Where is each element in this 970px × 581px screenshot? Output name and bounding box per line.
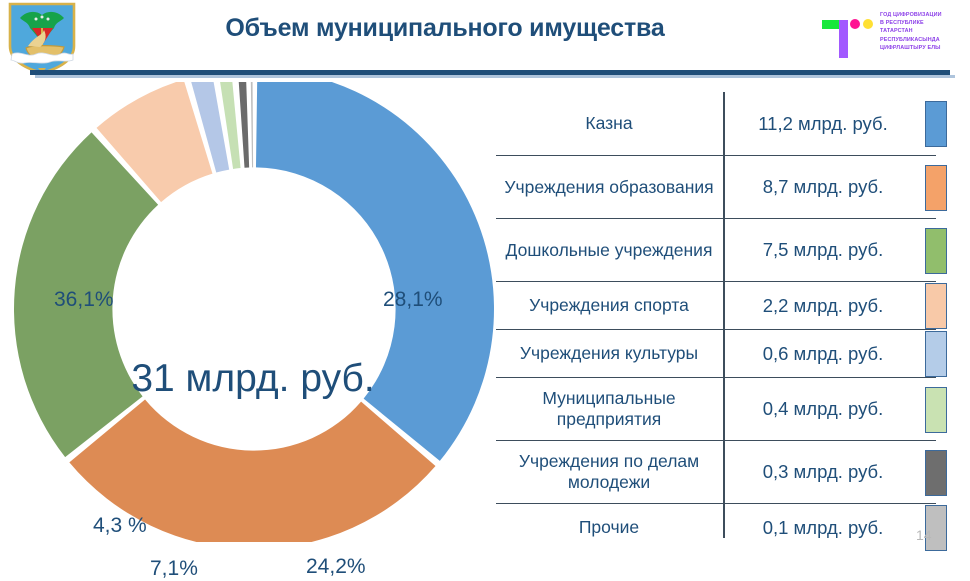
donut-pct-label-3: 7,1%: [150, 557, 198, 581]
logo-text: ГОД ЦИФРОВИЗАЦИИ В РЕСПУБЛИКЕ ТАТАРСТАН …: [880, 11, 970, 52]
legend-item-name: Муниципальные предприятия: [496, 378, 722, 440]
legend-color-swatch: [925, 101, 947, 147]
table-row[interactable]: Учреждения спорта2,2 млрд. руб.: [496, 281, 936, 329]
legend-item-name: Прочие: [496, 504, 722, 551]
logo-text-line-2: В РЕСПУБЛИКЕ: [880, 19, 970, 27]
legend-color-swatch: [925, 165, 947, 211]
page-title: Объем муниципального имущества: [175, 14, 715, 43]
legend-item-name: Дошкольные учреждения: [496, 219, 722, 281]
legend-item-value: 0,1 млрд. руб.: [725, 504, 921, 551]
legend-color-swatch: [925, 331, 947, 377]
logo-text-line-4: РЕСПУБЛИКАСЫНДА: [880, 36, 970, 44]
donut-pct-label-0: 36,1%: [54, 288, 114, 312]
legend-item-value: 8,7 млрд. руб.: [725, 156, 921, 218]
legend-item-value: 0,6 млрд. руб.: [725, 330, 921, 377]
legend-item-name: Учреждения культуры: [496, 330, 722, 377]
legend-item-name: Учреждения образования: [496, 156, 722, 218]
table-row[interactable]: Дошкольные учреждения7,5 млрд. руб.: [496, 218, 936, 281]
table-row[interactable]: Прочие0,1 млрд. руб.: [496, 503, 936, 551]
table-row[interactable]: Учреждения культуры0,6 млрд. руб.: [496, 329, 936, 377]
header-divider-shadow: [35, 75, 955, 78]
legend-item-name: Казна: [496, 92, 722, 155]
logo-mark-icon: [822, 14, 874, 58]
legend-item-value: 2,2 млрд. руб.: [725, 282, 921, 329]
legend-item-value: 7,5 млрд. руб.: [725, 219, 921, 281]
logo-text-line-1: ГОД ЦИФРОВИЗАЦИИ: [880, 11, 970, 19]
legend-item-value: 11,2 млрд. руб.: [725, 92, 921, 155]
donut-pct-label-2: 24,2%: [306, 555, 366, 579]
slide-header: Объем муниципального имущества ГОД ЦИФРО…: [0, 0, 970, 78]
donut-pct-label-1: 28,1%: [383, 288, 443, 312]
legend-item-name: Учреждения спорта: [496, 282, 722, 329]
table-row[interactable]: Муниципальные предприятия0,4 млрд. руб.: [496, 377, 936, 440]
legend-item-value: 0,4 млрд. руб.: [725, 378, 921, 440]
legend-item-name: Учреждения по делам молодежи: [496, 441, 722, 503]
legend-color-swatch: [925, 228, 947, 274]
legend-color-swatch: [925, 387, 947, 433]
legend-item-value: 0,3 млрд. руб.: [725, 441, 921, 503]
table-row[interactable]: Казна11,2 млрд. руб.: [496, 92, 936, 155]
donut-slice-6: [238, 82, 249, 168]
legend-color-swatch: [925, 283, 947, 329]
legend-table: Казна11,2 млрд. руб.Учреждения образован…: [496, 92, 936, 538]
page-number: 14: [916, 527, 932, 543]
donut-chart: 31 млрд. руб. 36,1% 28,1% 24,2% 7,1% 4,3…: [8, 82, 503, 542]
table-row[interactable]: Учреждения образования8,7 млрд. руб.: [496, 155, 936, 218]
donut-slice-0: [256, 82, 494, 461]
legend-color-swatch: [925, 450, 947, 496]
donut-slice-7: [251, 82, 253, 167]
year-of-digitalization-logo: ГОД ЦИФРОВИЗАЦИИ В РЕСПУБЛИКЕ ТАТАРСТАН …: [822, 10, 970, 64]
donut-chart-svg: [8, 82, 503, 542]
donut-pct-label-4: 4,3 %: [93, 514, 147, 538]
coat-of-arms-icon: [6, 2, 78, 74]
logo-text-line-3: ТАТАРСТАН: [880, 27, 970, 35]
donut-center-label: 31 млрд. руб.: [98, 357, 408, 401]
logo-text-line-5: ЦИФРЛАШТЫРУ ЕЛЫ: [880, 44, 970, 52]
table-row[interactable]: Учреждения по делам молодежи0,3 млрд. ру…: [496, 440, 936, 503]
